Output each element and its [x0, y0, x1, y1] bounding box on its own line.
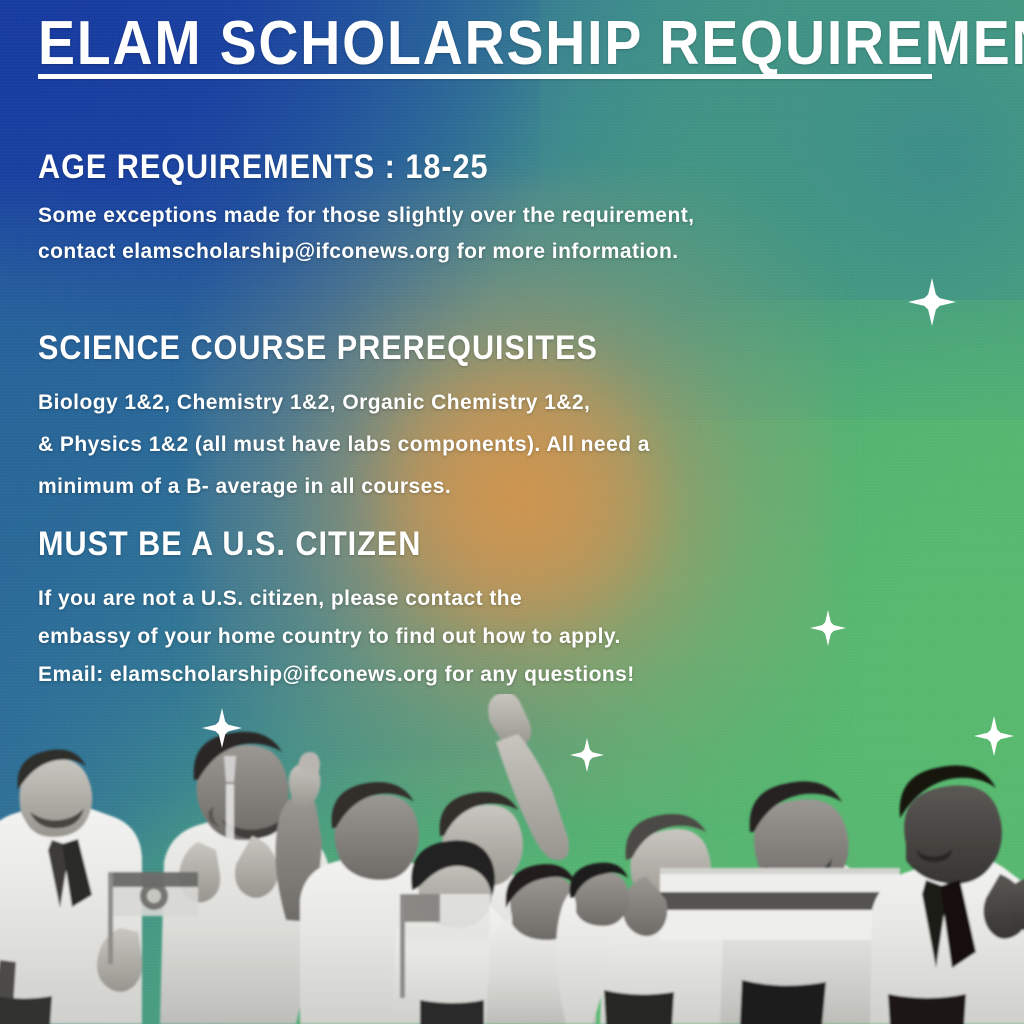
body-line: embassy of your home country to find out… — [38, 618, 635, 656]
section-age-requirements: AGE REQUIREMENTS : 18-25 Some exceptions… — [38, 149, 694, 270]
body-line: contact elamscholarship@ifconews.org for… — [38, 234, 694, 270]
section-heading-science: SCIENCE COURSE PREREQUISITES — [38, 330, 598, 366]
body-line: Biology 1&2, Chemistry 1&2, Organic Chem… — [38, 382, 660, 424]
scholarship-requirements-poster: ELAM SCHOLARSHIP REQUIREMENTS AGE REQUIR… — [0, 0, 1024, 1024]
body-line: Some exceptions made for those slightly … — [38, 198, 694, 234]
body-line: Email: elamscholarship@ifconews.org for … — [38, 656, 635, 694]
section-body-science: Biology 1&2, Chemistry 1&2, Organic Chem… — [38, 382, 660, 508]
body-line: & Physics 1&2 (all must have labs compon… — [38, 424, 660, 466]
section-body-citizen: If you are not a U.S. citizen, please co… — [38, 580, 635, 694]
body-line: If you are not a U.S. citizen, please co… — [38, 580, 635, 618]
section-citizenship: MUST BE A U.S. CITIZEN If you are not a … — [38, 526, 635, 694]
students-photo — [0, 694, 1024, 1024]
section-body-age: Some exceptions made for those slightly … — [38, 198, 694, 270]
section-heading-citizen: MUST BE A U.S. CITIZEN — [38, 526, 575, 562]
body-line: minimum of a B- average in all courses. — [38, 466, 660, 508]
page-title: ELAM SCHOLARSHIP REQUIREMENTS — [38, 12, 844, 75]
section-science-prerequisites: SCIENCE COURSE PREREQUISITES Biology 1&2… — [38, 330, 660, 508]
title-underline-rule — [38, 74, 932, 79]
section-heading-age: AGE REQUIREMENTS : 18-25 — [38, 149, 629, 185]
